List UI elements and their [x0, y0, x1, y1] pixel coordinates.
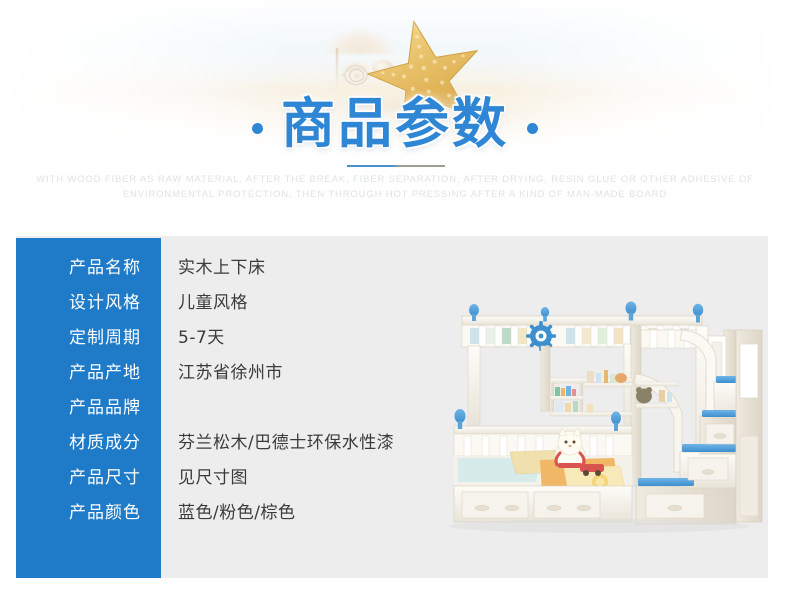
spec-value-product-name: 实木上下床	[161, 253, 266, 278]
table-row: 产品名称 实木上下床	[16, 248, 768, 283]
spec-key-material: 材质成分	[16, 428, 161, 453]
spec-value-design-style: 儿童风格	[161, 288, 248, 313]
spec-key-size: 产品尺寸	[16, 463, 161, 488]
banner-subtitle-line1: WITH WOOD FIBER AS RAW MATERIAL, AFTER T…	[0, 172, 790, 187]
spec-key-design-style: 设计风格	[16, 288, 161, 313]
banner-title-row: 商品参数	[0, 88, 790, 160]
spec-key-lead-time: 定制周期	[16, 323, 161, 348]
title-right-dot-icon	[527, 123, 538, 134]
spec-value-size: 见尺寸图	[161, 463, 248, 488]
page-title: 商品参数	[281, 97, 509, 151]
spec-value-color: 蓝色/粉色/棕色	[161, 498, 295, 523]
bottom-whitespace	[0, 578, 790, 611]
product-image-bunk-bed	[424, 286, 768, 534]
spec-key-color: 产品颜色	[16, 498, 161, 523]
banner-subtitle-line2: ENVIRONMENTAL PROTECTION, THEN THROUGH H…	[0, 187, 790, 202]
spec-value-material: 芬兰松木/巴德士环保水性漆	[161, 428, 394, 453]
spec-key-brand: 产品品牌	[16, 393, 161, 418]
spec-key-origin: 产品产地	[16, 358, 161, 383]
title-left-dot-icon	[252, 123, 263, 134]
page-banner: 商品参数 WITH WOOD FIBER AS RAW MATERIAL, AF…	[0, 0, 790, 232]
spec-key-product-name: 产品名称	[16, 253, 161, 278]
banner-subtitle: WITH WOOD FIBER AS RAW MATERIAL, AFTER T…	[0, 172, 790, 202]
title-underline	[347, 165, 445, 167]
spec-value-lead-time: 5-7天	[161, 323, 225, 348]
spec-value-origin: 江苏省徐州市	[161, 358, 283, 383]
